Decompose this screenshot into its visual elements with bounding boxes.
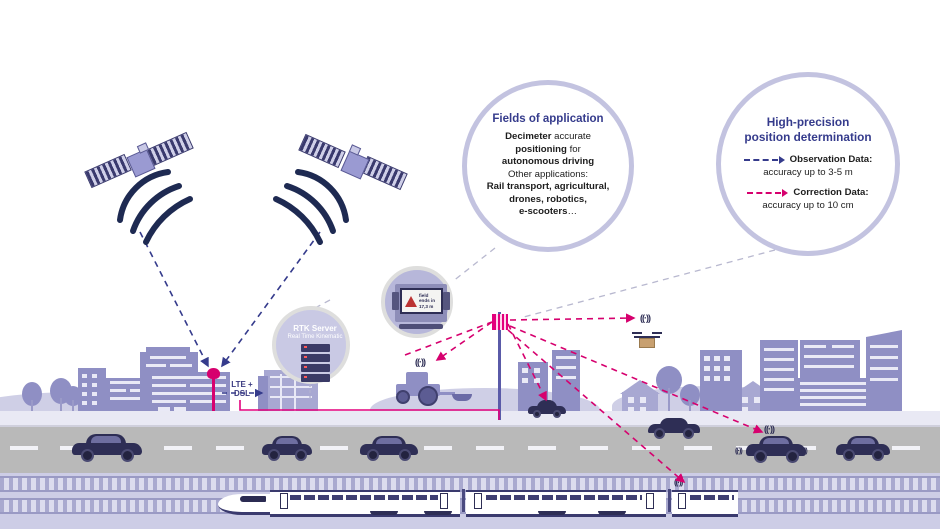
window-row xyxy=(534,378,540,383)
train-door xyxy=(440,493,448,509)
positioning-strong: positioning xyxy=(515,144,567,155)
window-row xyxy=(704,356,710,361)
lane-marking xyxy=(216,446,244,450)
server-rack-unit xyxy=(301,344,330,352)
car-compact-left xyxy=(262,436,312,460)
train-coupler xyxy=(462,489,465,512)
car-wheel xyxy=(654,428,665,439)
car-mid xyxy=(360,436,418,460)
rtk-server-bubble: RTK Server Real Time Kinematic xyxy=(272,306,350,384)
dashboard-screen: field ends in 17,3 m xyxy=(400,288,443,314)
window-row xyxy=(170,364,192,367)
window-row xyxy=(82,383,87,387)
line1-rest: accurate xyxy=(551,131,590,142)
window-row xyxy=(724,366,730,371)
window-grid xyxy=(280,374,282,416)
train-door xyxy=(646,493,654,509)
road-edge-top xyxy=(0,425,940,427)
window-row xyxy=(92,374,97,378)
window-row xyxy=(764,358,794,361)
car-wheel xyxy=(268,449,280,461)
window-row xyxy=(704,376,710,381)
window-row xyxy=(704,366,710,371)
train-door xyxy=(474,493,482,509)
window-row xyxy=(82,401,87,405)
house-roof xyxy=(620,380,660,394)
window-row xyxy=(870,345,898,348)
lane-marking xyxy=(164,446,192,450)
observation-detail: accuracy up to 3-5 m xyxy=(744,167,873,180)
car-wheel xyxy=(553,410,561,418)
satellite-body xyxy=(340,150,369,179)
train-nose-window xyxy=(240,496,266,502)
building-right-skew xyxy=(866,330,902,418)
car-wheel xyxy=(295,449,307,461)
dashboard-vent-right xyxy=(443,292,450,310)
correction-dash-icon xyxy=(747,192,781,194)
dashboard-message: field ends in 17,3 m xyxy=(419,293,435,309)
high-precision-callout: High-precision position determination Ob… xyxy=(716,72,900,256)
antenna-icon: ((·)) xyxy=(764,424,774,434)
lane-marking xyxy=(424,446,452,450)
satellite-left xyxy=(86,140,196,200)
backhaul-label: LTE + DSL xyxy=(218,380,266,398)
window-row xyxy=(522,368,528,373)
window-row xyxy=(724,356,730,361)
other-applications-line: Other applications: xyxy=(487,169,610,181)
window-row xyxy=(714,376,720,381)
window-row xyxy=(522,378,528,383)
car-wheel xyxy=(843,449,855,461)
window-grid xyxy=(270,396,312,398)
drone-rotor xyxy=(652,332,662,334)
car-autonomous xyxy=(746,436,806,462)
legend-row-correction: Correction Data: xyxy=(744,187,873,200)
window-row xyxy=(870,378,898,381)
train-bogie xyxy=(424,511,452,515)
window-row xyxy=(190,400,226,403)
server-rack-unit xyxy=(301,364,330,372)
lane-marking xyxy=(684,446,712,450)
backhaul-label-line1: LTE + xyxy=(218,380,266,389)
window-row xyxy=(110,389,126,392)
antenna-icon: ((·)) xyxy=(674,478,682,487)
window-row xyxy=(92,401,97,405)
building-left-tower-cap xyxy=(146,347,190,353)
car-wheel xyxy=(533,410,541,418)
high-speed-train xyxy=(218,484,738,514)
lane-marking xyxy=(10,446,38,450)
decimeter-strong: Decimeter xyxy=(505,131,551,142)
window-grid xyxy=(270,386,312,388)
server-rack-unit xyxy=(301,374,330,382)
high-precision-title-line1: High-precision xyxy=(744,115,871,130)
applications-line-a: Rail transport, agricultural, xyxy=(487,181,610,193)
car-wheel xyxy=(683,428,694,439)
window-row xyxy=(628,397,634,403)
window-row xyxy=(714,356,720,361)
antenna-icon: ((·)) xyxy=(640,313,650,323)
window-row xyxy=(152,384,186,387)
tractor-implement xyxy=(452,394,472,401)
tractor-wheel-rear xyxy=(418,386,438,406)
antenna-icon: ((·)) xyxy=(735,448,742,455)
rtk-server-title: RTK Server xyxy=(276,324,354,333)
lane-marking xyxy=(476,446,504,450)
window-row xyxy=(742,397,748,403)
mast-antenna-array xyxy=(492,314,508,330)
warning-triangle-icon xyxy=(405,296,417,307)
window-row xyxy=(870,367,898,370)
train-bogie xyxy=(598,511,626,515)
observation-dash-icon xyxy=(744,159,778,161)
fields-of-application-body: Decimeter accurate positioning for auton… xyxy=(487,131,610,218)
high-precision-title: High-precision position determination xyxy=(744,115,871,144)
window-row xyxy=(804,345,826,348)
train-window-strip xyxy=(486,495,642,500)
observation-arrow-icon xyxy=(779,156,785,164)
drone-package xyxy=(639,338,655,348)
vehicle-dashboard-bubble: field ends in 17,3 m xyxy=(381,266,453,338)
train-bogie xyxy=(370,511,398,515)
legend-row-observation: Observation Data: xyxy=(744,154,873,167)
car-wheel xyxy=(399,449,411,461)
window-row xyxy=(556,366,576,369)
train-door xyxy=(678,493,686,509)
window-row xyxy=(832,345,854,348)
car-hatchback-right xyxy=(836,436,890,460)
tractor xyxy=(392,372,472,406)
correction-arrow-icon xyxy=(782,189,788,197)
lane-marking xyxy=(320,446,348,450)
fields-of-application-title: Fields of application xyxy=(492,113,603,125)
window-row xyxy=(804,365,854,368)
car-on-hill xyxy=(528,400,566,416)
autonomous-driving-line: autonomous driving xyxy=(487,156,610,168)
observation-label: Observation Data: xyxy=(790,154,873,167)
window-row xyxy=(714,366,720,371)
window-row xyxy=(152,400,186,403)
high-precision-title-line2: position determination xyxy=(744,130,871,145)
car-wheel xyxy=(121,449,134,462)
car-wheel xyxy=(754,450,767,463)
window-row xyxy=(764,378,794,381)
slide-canvas: Precise Positioning Source: DFMG Deutsch… xyxy=(0,0,940,529)
correction-label: Correction Data: xyxy=(793,187,868,200)
dashboard-base xyxy=(399,324,443,329)
window-row xyxy=(640,397,646,403)
window-row xyxy=(804,355,854,358)
window-row xyxy=(534,368,540,373)
window-row xyxy=(764,388,794,391)
tractor-wheel-front xyxy=(396,390,410,404)
backhaul-label-line2: DSL xyxy=(218,389,266,398)
correction-detail: accuracy up to 10 cm xyxy=(744,200,873,213)
window-row xyxy=(556,376,576,379)
rtk-server-subtitle: Real Time Kinematic xyxy=(276,334,354,341)
window-row xyxy=(92,383,97,387)
car-wheel xyxy=(367,449,379,461)
window-row xyxy=(92,392,97,396)
line7-rest: … xyxy=(567,206,577,217)
lane-marking xyxy=(580,446,608,450)
window-row xyxy=(764,348,794,351)
car-wheel xyxy=(786,450,799,463)
lane-marking xyxy=(892,446,920,450)
delivery-drone xyxy=(632,330,662,350)
window-row xyxy=(82,392,87,396)
satellite-right xyxy=(300,142,410,202)
car-sedan-left xyxy=(72,434,142,460)
train-window-strip xyxy=(690,495,734,500)
line2-rest: for xyxy=(567,144,581,155)
drone-rotor xyxy=(632,332,642,334)
applications-line-b: drones, robotics, xyxy=(487,194,610,206)
antenna-icon: ((·)) xyxy=(800,448,807,455)
train-window-strip xyxy=(290,495,438,500)
train-bogie xyxy=(538,511,566,515)
dashboard-vent-left xyxy=(392,292,399,310)
rail-line xyxy=(0,476,940,478)
window-row xyxy=(764,368,794,371)
satellite-panel xyxy=(84,154,132,188)
lane-marking xyxy=(632,446,660,450)
rooftop-antenna-head xyxy=(207,368,220,379)
antenna-icon: ((·)) xyxy=(415,357,425,367)
car-sports-right xyxy=(648,418,700,438)
lane-marking xyxy=(528,446,556,450)
window-row xyxy=(82,374,87,378)
window-row xyxy=(870,356,898,359)
train-coupler xyxy=(668,489,671,512)
car-wheel xyxy=(872,449,884,461)
car-wheel xyxy=(81,449,94,462)
window-row xyxy=(150,356,186,359)
window-row xyxy=(556,356,576,359)
escooters-strong: e-scooters xyxy=(519,206,568,217)
window-row xyxy=(146,364,166,367)
high-precision-legend: Observation Data: accuracy up to 3-5 m C… xyxy=(744,154,873,213)
server-rack-unit xyxy=(301,354,330,362)
window-row xyxy=(724,376,730,381)
fields-of-application-callout: Fields of application Decimeter accurate… xyxy=(462,80,634,252)
train-door xyxy=(280,493,288,509)
